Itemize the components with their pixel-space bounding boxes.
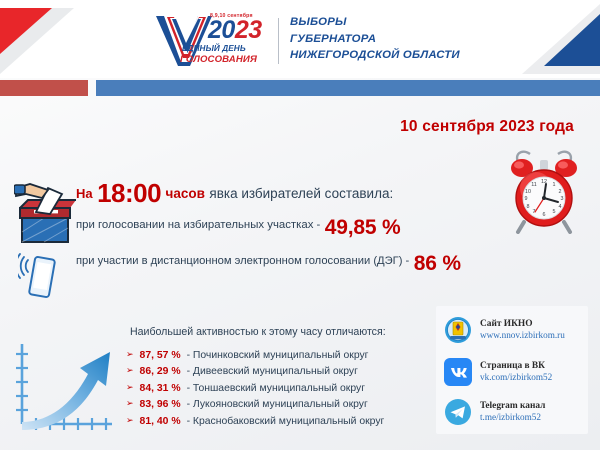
header-title-line-1: ВЫБОРЫ — [290, 14, 460, 31]
header-red-triangle — [0, 8, 52, 54]
logo-line-edinyy: ЕДИНЫЙ ДЕНЬ — [182, 44, 246, 53]
smartphone-icon — [18, 252, 58, 298]
turnout-row-0-value: 49,85 % — [325, 216, 401, 239]
header-title-line-2: ГУБЕРНАТОРА — [290, 31, 460, 48]
contact-1-url[interactable]: vk.com/izbirkom52 — [480, 372, 552, 384]
arrow-bullet-icon: ➢ — [126, 350, 134, 359]
stripe-blue-segment — [96, 80, 600, 96]
contact-row-vk[interactable]: Страница в ВК vk.com/izbirkom52 — [444, 358, 552, 386]
ranking-item-4-percent: 81, 40 % — [140, 416, 181, 427]
turnout-row-1-label: при участии в дистанционном электронном … — [76, 255, 409, 267]
turnout-headline: На 18:00 часов явка избирателей составил… — [76, 178, 393, 209]
svg-text:4: 4 — [559, 204, 562, 210]
arrow-bullet-icon: ➢ — [126, 399, 134, 408]
ranking-item-0-percent: 87, 57 % — [140, 350, 181, 361]
svg-text:11: 11 — [531, 182, 537, 188]
brand-lockup: 8,9,10 сентября 2023 ЕДИНЫЙ ДЕНЬ ГОЛОСОВ… — [152, 8, 274, 70]
svg-text:3: 3 — [561, 196, 564, 202]
list-item: ➢ 86, 29 % - Дивеевский муниципальный ок… — [126, 366, 384, 382]
contact-vk-text: Страница в ВК vk.com/izbirkom52 — [480, 361, 552, 384]
contact-1-title: Страница в ВК — [480, 361, 552, 373]
contact-0-url[interactable]: www.nnov.izbirkom.ru — [480, 330, 565, 342]
rising-arrow-chart-icon — [12, 338, 116, 434]
ranking-list: ➢ 87, 57 % - Починковский муниципальный … — [126, 350, 384, 432]
svg-text:10: 10 — [525, 189, 531, 195]
contact-row-telegram[interactable]: Telegram канал t.me/izbirkom52 — [444, 398, 545, 426]
contacts-panel: Сайт ИКНО www.nnov.izbirkom.ru Страница … — [436, 306, 588, 434]
ranking-item-4-name: - Краснобаковский муниципальный округ — [187, 416, 385, 427]
logo-divider — [278, 18, 279, 64]
ranking-item-3-percent: 83, 96 % — [140, 399, 181, 410]
ranking-item-2-percent: 84, 31 % — [140, 383, 181, 394]
contact-website-text: Сайт ИКНО www.nnov.izbirkom.ru — [480, 319, 565, 342]
contact-telegram-text: Telegram канал t.me/izbirkom52 — [480, 401, 545, 424]
turnout-row-remote-voting: при участии в дистанционном электронном … — [76, 252, 461, 276]
contact-2-title: Telegram канал — [480, 401, 545, 413]
svg-text:1: 1 — [553, 182, 556, 188]
header-banner: 8,9,10 сентября 2023 ЕДИНЫЙ ДЕНЬ ГОЛОСОВ… — [0, 0, 600, 78]
list-item: ➢ 87, 57 % - Починковский муниципальный … — [126, 350, 384, 366]
arrow-bullet-icon: ➢ — [126, 416, 134, 425]
arrow-bullet-icon: ➢ — [126, 383, 134, 392]
ranking-item-0-name: - Починковский муниципальный округ — [187, 350, 369, 361]
color-stripe — [0, 80, 600, 96]
turnout-headline-rest: явка избирателей составила: — [209, 186, 393, 201]
logo-year: 2023 — [208, 18, 262, 43]
turnout-row-polling-stations: при голосовании на избирательных участка… — [76, 216, 400, 240]
arrow-bullet-icon: ➢ — [126, 366, 134, 375]
contact-row-website[interactable]: Сайт ИКНО www.nnov.izbirkom.ru — [444, 316, 565, 344]
list-item: ➢ 81, 40 % - Краснобаковский муниципальн… — [126, 416, 384, 432]
turnout-hours-word: часов — [166, 186, 205, 201]
svg-text:9: 9 — [525, 196, 528, 202]
ikno-emblem-icon — [444, 316, 472, 344]
ballot-box-icon — [14, 182, 76, 246]
svg-text:8: 8 — [527, 204, 530, 210]
svg-text:2: 2 — [559, 189, 562, 195]
header-title-line-3: НИЖЕГОРОДСКОЙ ОБЛАСТИ — [290, 47, 460, 64]
ranking-item-1-percent: 86, 29 % — [140, 366, 181, 377]
logo-line-golosovaniya: ГОЛОСОВАНИЯ — [180, 54, 257, 65]
list-item: ➢ 83, 96 % - Лукояновский муниципальный … — [126, 399, 384, 415]
list-item: ➢ 84, 31 % - Тоншаевский муниципальный о… — [126, 383, 384, 399]
contact-2-url[interactable]: t.me/izbirkom52 — [480, 412, 545, 424]
stripe-red-segment — [0, 80, 88, 96]
report-date: 10 сентября 2023 года — [400, 118, 574, 136]
turnout-row-0-label: при голосовании на избирательных участка… — [76, 219, 320, 231]
ranking-item-1-name: - Дивеевский муниципальный округ — [187, 366, 358, 377]
header-blue-triangle — [544, 14, 600, 66]
header-title: ВЫБОРЫ ГУБЕРНАТОРА НИЖЕГОРОДСКОЙ ОБЛАСТИ — [290, 14, 460, 64]
ranking-heading: Наибольшей активностью к этому часу отли… — [130, 326, 386, 338]
turnout-time: 18:00 — [97, 178, 161, 208]
svg-text:6: 6 — [543, 212, 546, 218]
turnout-row-1-value: 86 % — [414, 252, 461, 275]
telegram-icon — [444, 398, 472, 426]
election-turnout-infographic: 8,9,10 сентября 2023 ЕДИНЫЙ ДЕНЬ ГОЛОСОВ… — [0, 0, 600, 450]
contact-0-title: Сайт ИКНО — [480, 319, 565, 331]
ranking-item-3-name: - Лукояновский муниципальный округ — [187, 399, 368, 410]
svg-text:5: 5 — [553, 209, 556, 215]
turnout-prefix: На — [76, 186, 93, 201]
edg-2023-logo: 8,9,10 сентября 2023 ЕДИНЫЙ ДЕНЬ ГОЛОСОВ… — [152, 8, 274, 70]
ranking-item-2-name: - Тоншаевский муниципальный округ — [187, 383, 365, 394]
alarm-clock-icon: 1212 345 678 91011 — [506, 148, 582, 234]
vk-icon — [444, 358, 472, 386]
